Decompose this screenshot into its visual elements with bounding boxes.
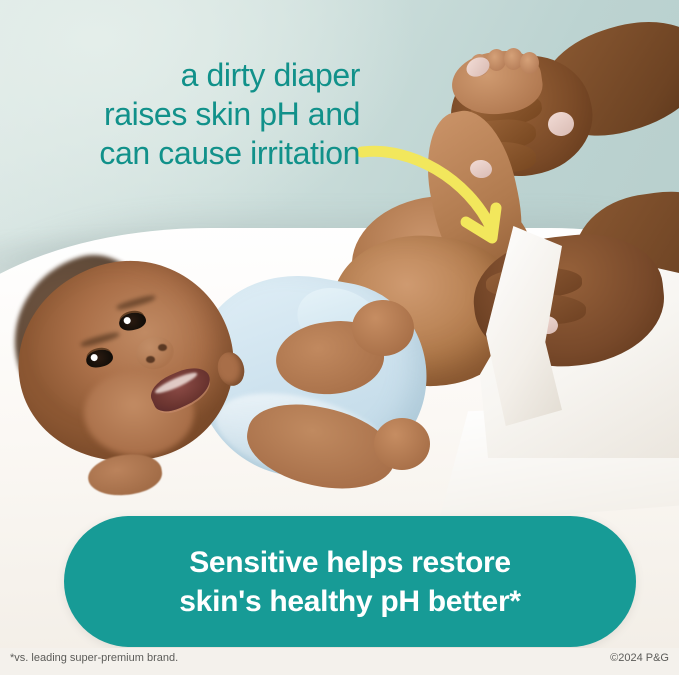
footer: *vs. leading super-premium brand. ©2024 … [0, 648, 679, 675]
claim-banner: Sensitive helps restore skin's healthy p… [64, 516, 636, 647]
product-photo: a dirty diaper raises skin pH and can ca… [0, 0, 679, 648]
eye-glint [90, 353, 98, 361]
headline-line-1: a dirty diaper [0, 56, 360, 95]
headline-line-3: can cause irritation [0, 134, 360, 173]
ad-creative: a dirty diaper raises skin pH and can ca… [0, 0, 679, 675]
baby-toe [520, 52, 539, 74]
headline-line-2: raises skin pH and [0, 95, 360, 134]
copyright-text: ©2024 P&G [610, 652, 669, 664]
claim-line-2: skin's healthy pH better* [179, 582, 520, 621]
headline: a dirty diaper raises skin pH and can ca… [0, 56, 360, 173]
eye-glint [123, 316, 131, 324]
baby-nostril [158, 344, 167, 351]
baby-fist-upper [352, 300, 414, 356]
curved-down-arrow-icon [340, 130, 540, 260]
baby-nostril [146, 356, 155, 363]
baby-fist-lower [374, 418, 430, 470]
claim-line-1: Sensitive helps restore [189, 543, 511, 582]
footnote-text: *vs. leading super-premium brand. [10, 652, 178, 664]
